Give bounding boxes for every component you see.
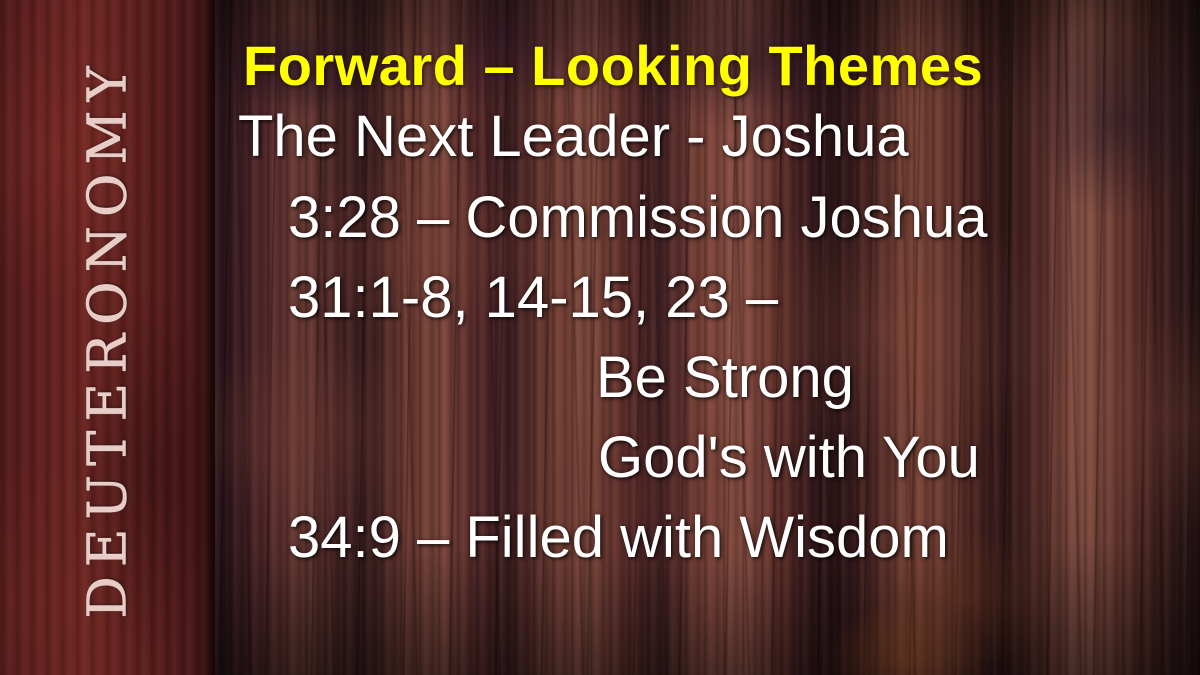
slide-title: Forward – Looking Themes — [243, 38, 983, 94]
presentation-slide: DEUTERONOMY Forward – Looking Themes The… — [0, 0, 1200, 675]
body-line-3: 31:1-8, 14-15, 23 – — [288, 269, 778, 327]
body-line-4: Be Strong — [596, 349, 854, 407]
body-line-5: God's with You — [598, 429, 980, 487]
body-line-6: 34:9 – Filled with Wisdom — [288, 509, 949, 567]
slide-text-content: Forward – Looking Themes The Next Leader… — [0, 0, 1200, 675]
body-line-1: The Next Leader - Joshua — [238, 108, 909, 166]
body-line-2: 3:28 – Commission Joshua — [288, 189, 988, 247]
